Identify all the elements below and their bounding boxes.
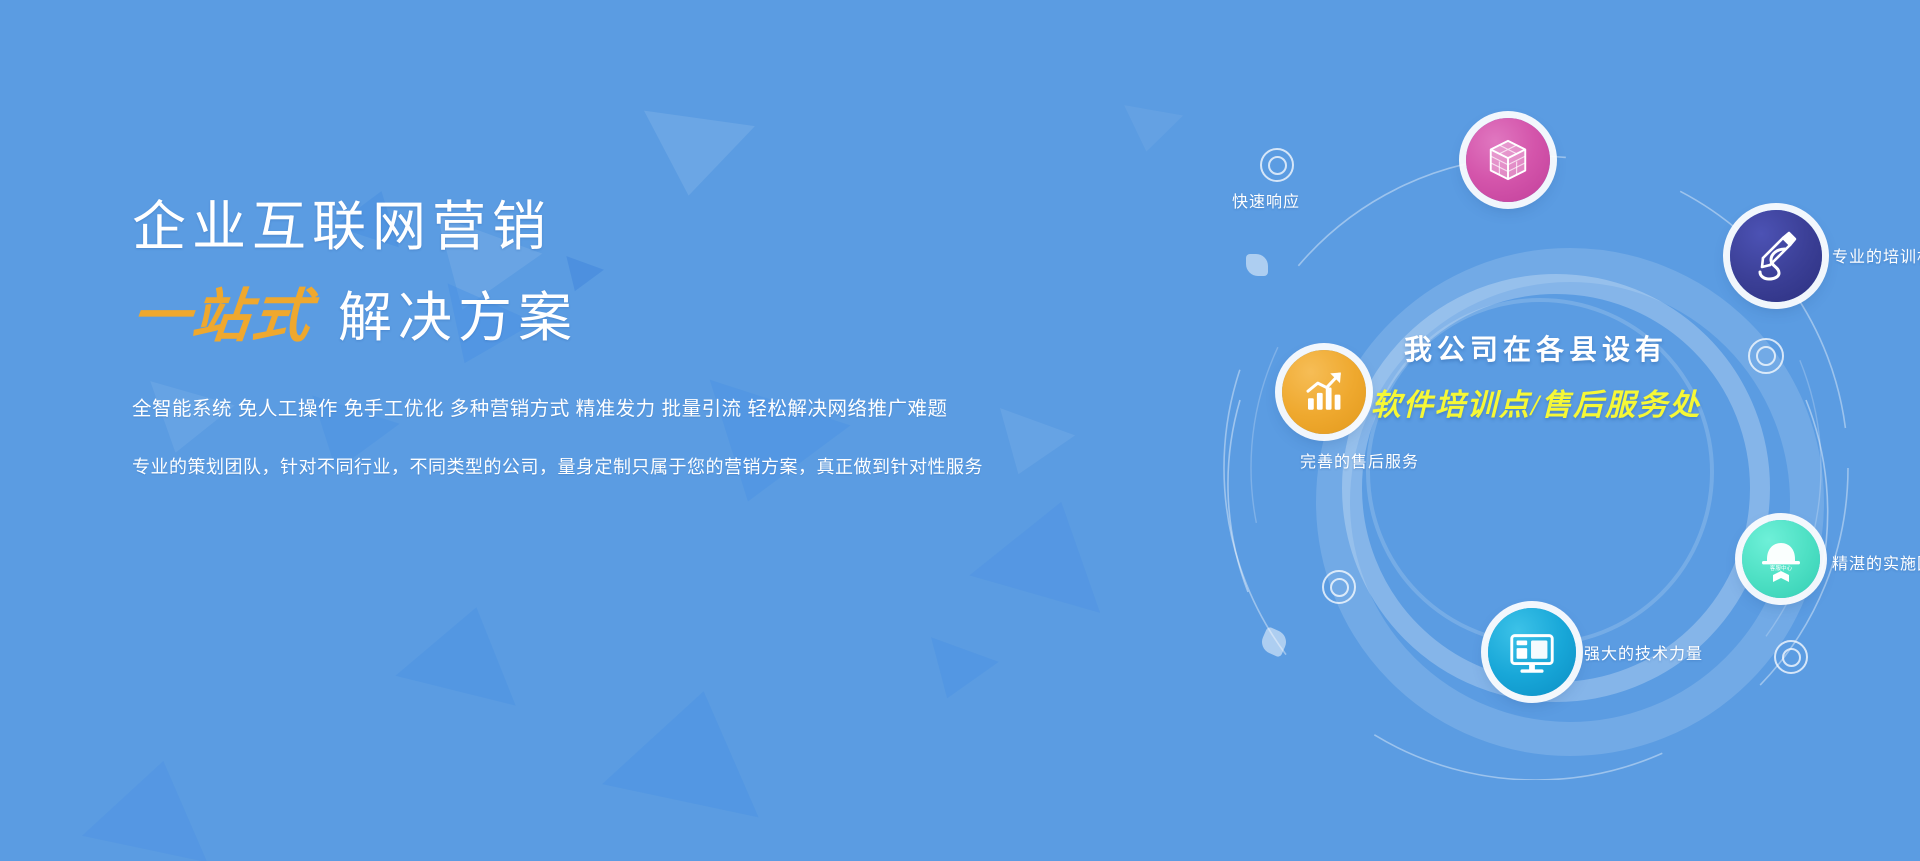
decorative-triangle [633,111,755,204]
center-line-1: 我公司在各县设有 [1366,328,1706,368]
service-hat-caption: 客服中心 [1770,564,1793,572]
marker-right-lower [1774,640,1808,674]
decorative-triangle [395,592,536,705]
orbit-arcs [1080,100,1880,780]
node-strong-technology[interactable] [1488,608,1576,696]
label-after-sales-service: 完善的售后服务 [1300,448,1419,472]
headline-rest: 解决方案 [338,291,578,345]
node-professional-training[interactable] [1730,210,1822,302]
label-professional-training: 专业的培训机构 [1832,243,1920,267]
page-title: 企业互联网营销 [132,200,1052,254]
node-skilled-implementation[interactable]: 客服中心 [1742,520,1820,598]
decorative-triangle [602,675,782,818]
marker-right-upper [1748,338,1784,374]
center-message: 我公司在各县设有 软件培训点/售后服务处 [1366,328,1706,424]
label-skilled-implementation: 精湛的实施团队 [1832,550,1920,574]
cube-icon [1485,137,1531,183]
pen-signature-icon [1749,229,1803,283]
node-fast-response[interactable] [1466,118,1550,202]
monitor-icon [1506,626,1558,678]
center-line-2: 软件培训点/售后服务处 [1366,380,1706,424]
subline-features: 全智能系统 免人工操作 免手工优化 多种营销方式 精准发力 批量引流 轻松解决网… [132,392,1052,421]
decorative-triangle [82,748,226,861]
subline-description: 专业的策划团队，针对不同行业，不同类型的公司，量身定制只属于您的营销方案，真正做… [132,453,1052,479]
decorative-triangle [913,637,998,710]
hero-copy: 企业互联网营销 一站式解决方案 全智能系统 免人工操作 免手工优化 多种营销方式… [132,200,1052,479]
decorative-pin [1246,254,1268,276]
service-hat-icon: 客服中心 [1754,532,1808,586]
marker-bottom-left [1322,570,1356,604]
growth-chart-icon [1300,368,1348,416]
label-fast-response: 快速响应 [1232,188,1300,212]
marker-top-left [1260,148,1294,182]
label-strong-technology: 强大的技术力量 [1584,640,1703,664]
node-after-sales-service[interactable] [1282,350,1366,434]
marketing-banner: 企业互联网营销 一站式解决方案 全智能系统 免人工操作 免手工优化 多种营销方式… [0,0,1920,861]
headline-highlight: 一站式 [129,288,315,346]
circular-diagram: 快速响应 专业的培训机构 [1080,100,1880,780]
headline-secondary: 一站式解决方案 [132,288,1052,346]
